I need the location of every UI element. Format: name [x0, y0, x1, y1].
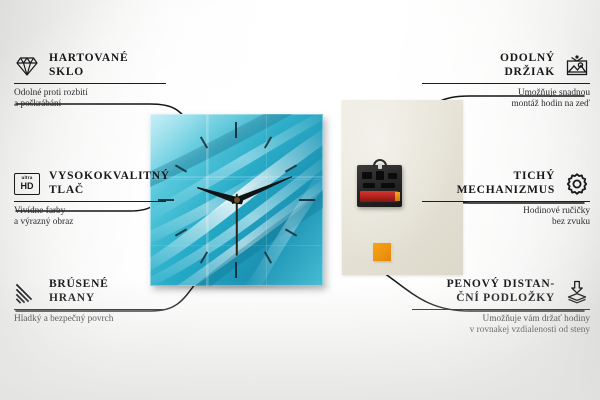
wall-clock [150, 114, 323, 286]
feature-divider [14, 201, 166, 202]
feature-title: BRÚSENÉ HRANY [49, 278, 109, 305]
mechanism-detail-c [388, 173, 397, 179]
clock-mechanism [357, 165, 402, 207]
feature-divider [14, 309, 166, 310]
mechanism-detail-a [362, 172, 372, 179]
battery-positive-terminal [395, 192, 400, 201]
feature-title: PENOVÝ DISTAN- ČNÍ PODLOŽKY [447, 278, 555, 305]
feature-tempered-glass: HARTOVANÉ SKLO Odolné proti rozbití a po… [14, 52, 166, 111]
feature-title: TICHÝ MECHANIZMUS [457, 170, 555, 197]
tick-6 [235, 262, 237, 278]
feature-durable-holder: ODOLNÝ DRŽIAK Umožňuje snadnou montáž ho… [422, 52, 590, 111]
diamond-icon [14, 53, 40, 79]
picture-hanger-icon [564, 53, 590, 79]
feature-divider [412, 309, 590, 310]
promo-infographic: HARTOVANÉ SKLO Odolné proti rozbití a po… [0, 0, 600, 400]
feature-silent-mechanism: TICHÝ MECHANIZMUS Hodinové ručičky bez z… [422, 170, 590, 229]
feature-high-quality-print: ultra HD VYSOKOKVALITNÝ TLAČ Vivídne far… [14, 170, 166, 229]
ground-edges-icon [14, 279, 40, 305]
gear-icon [564, 171, 590, 197]
mechanism-detail-e [381, 183, 395, 188]
feature-title: HARTOVANÉ SKLO [49, 52, 128, 79]
stacked-layers-down-arrow-icon [564, 279, 590, 305]
mechanism-detail-b [376, 171, 384, 180]
feature-divider [422, 83, 590, 84]
feature-header: ultra HD VYSOKOKVALITNÝ TLAČ [14, 170, 166, 197]
feature-description: Umožňuje snadnou montáž hodin na zeď [422, 88, 590, 111]
feature-foam-spacers: PENOVÝ DISTAN- ČNÍ PODLOŽKY Umožňuje vám… [412, 278, 590, 337]
product-photo [140, 103, 460, 295]
feature-header: PENOVÝ DISTAN- ČNÍ PODLOŽKY [412, 278, 590, 305]
mechanism-battery [360, 191, 398, 202]
feature-title: ODOLNÝ DRŽIAK [500, 52, 555, 79]
feature-divider [14, 83, 166, 84]
mechanism-shaft [378, 163, 382, 169]
clock-center-cap [234, 197, 240, 203]
feature-header: ODOLNÝ DRŽIAK [422, 52, 590, 79]
feature-description: Odolné proti rozbití a poškrábání [14, 88, 166, 111]
feature-ground-edges: BRÚSENÉ HRANY Hladký a bezpečný povrch [14, 278, 166, 325]
feature-divider [422, 201, 590, 202]
feature-description: Umožňuje vám držať hodiny v rovnakej vzd… [412, 314, 590, 337]
tick-3 [299, 199, 315, 201]
feature-description: Hladký a bezpečný povrch [14, 314, 166, 325]
foam-spacer-pad [373, 243, 391, 261]
feature-title: VYSOKOKVALITNÝ TLAČ [49, 170, 170, 197]
ultra-hd-icon: ultra HD [14, 173, 40, 195]
tick-12 [235, 122, 237, 138]
feature-header: BRÚSENÉ HRANY [14, 278, 166, 305]
mechanism-detail-d [363, 183, 375, 188]
feature-header: HARTOVANÉ SKLO [14, 52, 166, 79]
feature-header: TICHÝ MECHANIZMUS [422, 170, 590, 197]
feature-description: Vivídne farby a výrazný obraz [14, 206, 166, 229]
feature-description: Hodinové ručičky bez zvuku [422, 206, 590, 229]
